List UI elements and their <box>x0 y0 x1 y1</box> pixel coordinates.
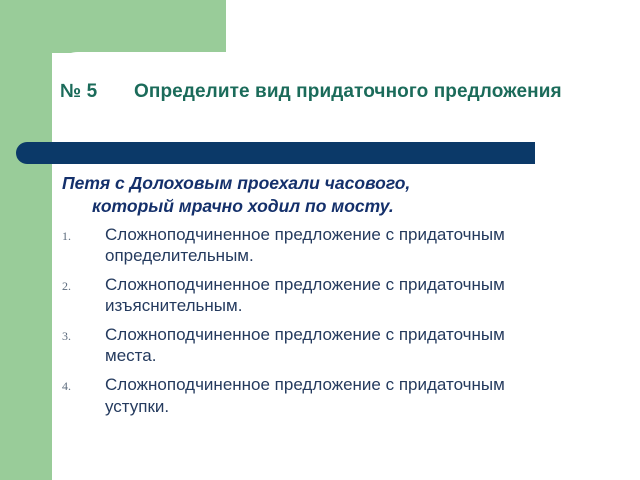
answer-label: Сложноподчиненное предложение с придаточ… <box>105 374 505 417</box>
answer-option-1[interactable]: 1. Сложноподчиненное предложение с прида… <box>52 224 612 267</box>
answer-marker: 1. <box>62 229 84 244</box>
answer-label: Сложноподчиненное предложение с придаточ… <box>105 224 505 267</box>
answer-marker: 3. <box>62 329 84 344</box>
answer-label: Сложноподчиненное предложение с придаточ… <box>105 274 505 317</box>
prompt-line-1: Петя с Долоховым проехали часового, <box>62 173 410 193</box>
answer-marker: 2. <box>62 279 84 294</box>
slide-canvas: № 5Определите вид придаточного предложен… <box>0 0 640 480</box>
prompt-line-2: который мрачно ходил по мосту. <box>62 195 542 218</box>
green-left-strip <box>0 0 52 480</box>
green-header-block <box>0 0 226 53</box>
slide-body: Петя с Долоховым проехали часового, кото… <box>52 172 612 424</box>
answer-option-3[interactable]: 3. Сложноподчиненное предложение с прида… <box>52 324 612 367</box>
slide-title: № 5Определите вид придаточного предложен… <box>60 80 580 103</box>
navy-divider-bar <box>16 142 535 164</box>
answer-label: Сложноподчиненное предложение с придаточ… <box>105 324 505 367</box>
question-prompt: Петя с Долоховым проехали часового, кото… <box>52 172 542 218</box>
answer-option-4[interactable]: 4. Сложноподчиненное предложение с прида… <box>52 374 612 417</box>
title-number: № 5 <box>60 80 134 103</box>
answer-marker: 4. <box>62 379 84 394</box>
answer-option-2[interactable]: 2. Сложноподчиненное предложение с прида… <box>52 274 612 317</box>
answer-list: 1. Сложноподчиненное предложение с прида… <box>52 224 612 418</box>
title-text: Определите вид придаточного предложения <box>134 81 562 102</box>
